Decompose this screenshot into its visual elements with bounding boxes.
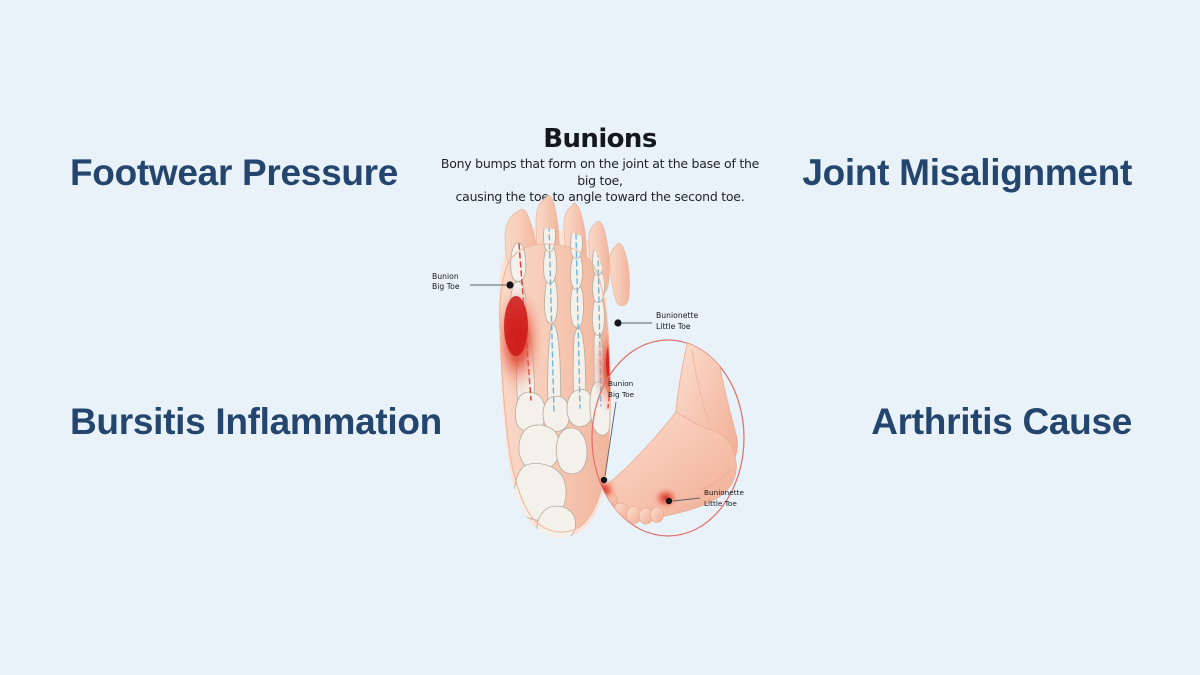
inset-callout-bunionette-line2: Little Toe [704,499,737,508]
inset-foot-view: Bunion Big Toe Bunionette Little Toe [588,332,745,536]
bunion-inflammation-core [504,296,528,356]
callout-bunion-marker-dot [506,281,513,288]
inset-bunionette-glow [652,486,680,510]
inset-callout-bunion-line2: Big Toe [608,390,635,399]
page-title: Bunions [440,126,760,153]
callout-bunionette-little-toe: Bunionette Little Toe [614,311,698,331]
callout-bunionette-marker-dot [614,319,621,326]
bunion-illustration: Bunion Big Toe Bunionette Little Toe [400,190,800,570]
callout-bunion-line2: Big Toe [432,282,460,291]
inset-callout-bunionette-marker-dot [666,498,672,504]
fifth-toe-skin [610,243,630,306]
cause-label-footwear-pressure: Footwear Pressure [70,152,398,194]
talus-body [556,428,587,474]
callout-bunionette-line1: Bunionette [656,311,698,320]
inset-callout-bunionette-line1: Bunionette [704,488,744,497]
proximal-phalanx-5 [612,308,624,346]
callout-bunion-line1: Bunion [432,272,459,281]
subtitle-line-1: Bony bumps that form on the joint at the… [441,156,759,187]
inset-callout-bunion-line1: Bunion [608,379,633,388]
infographic-canvas: Footwear Pressure Joint Misalignment Bur… [0,0,1200,675]
inset-fifth-toe [651,508,664,523]
cause-label-bursitis-inflammation: Bursitis Inflammation [70,401,442,443]
callout-bunionette-line2: Little Toe [656,322,691,331]
inset-callout-bunion-marker-dot [601,477,607,483]
cause-label-joint-misalignment: Joint Misalignment [802,152,1132,194]
cause-label-arthritis-cause: Arthritis Cause [871,401,1132,443]
